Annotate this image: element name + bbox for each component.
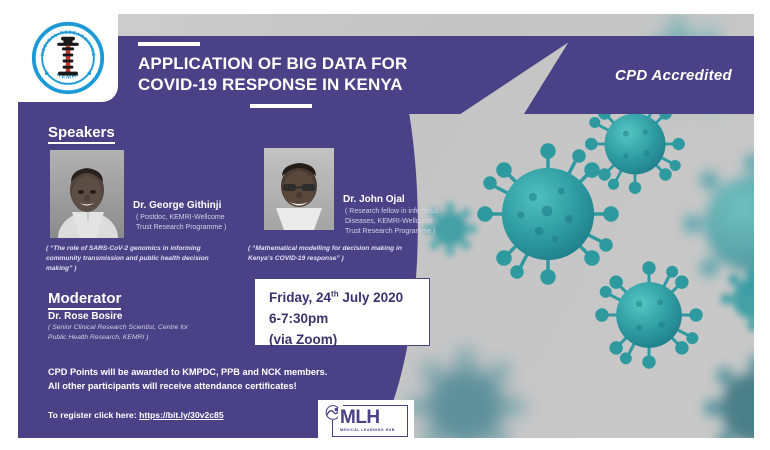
cpd-points-line-1: CPD Points will be awarded to KMPDC, PPB… <box>48 366 358 380</box>
speaker-quote-1: ( “Mathematical modelling for decision m… <box>248 244 428 264</box>
speaker-affiliation-1: ( Research fellow in infectious Diseases… <box>345 207 449 237</box>
speaker-photo-john-ojal <box>264 148 334 230</box>
title-rule-top <box>138 42 200 46</box>
event-platform: (via Zoom) <box>269 330 429 351</box>
virus-particle <box>403 344 528 438</box>
page-title: APPLICATION OF BIG DATA FOR COVID-19 RES… <box>138 54 408 95</box>
title-rule-bottom <box>250 104 312 108</box>
moderator-affiliation: ( Senior Clinical Research Scientist, Ce… <box>48 323 208 343</box>
mlh-tagline: MEDICAL LEARNING HUB <box>340 429 395 433</box>
event-time: 6-7:30pm <box>269 309 429 330</box>
event-date-rest: July 2020 <box>339 290 404 305</box>
event-date: Friday, 24th July 2020 <box>269 288 429 309</box>
speakers-heading: Speakers <box>48 124 115 144</box>
mlh-text-block: MLH MEDICAL LEARNING HUB <box>338 408 397 433</box>
register-line: To register click here: https://bit.ly/3… <box>48 410 224 420</box>
event-date-suffix: th <box>331 290 339 299</box>
speaker-affiliation-0: ( Postdoc, KEMRI-Wellcome Trust Research… <box>136 213 236 233</box>
virus-particle <box>698 349 754 438</box>
moderator-heading: Moderator <box>48 290 121 310</box>
register-label: To register click here: <box>48 410 137 420</box>
moderator-heading-label: Moderator <box>48 290 121 310</box>
virus-particle <box>718 264 754 334</box>
cpd-accredited-badge: CPD Accredited <box>615 36 732 114</box>
cpd-points-line-2: All other participants will receive atte… <box>48 380 358 394</box>
mlh-acronym: MLH <box>340 408 395 427</box>
event-date-text: Friday, 24 <box>269 290 331 305</box>
speaker-name-0: Dr. George Githinji <box>133 200 221 211</box>
title-block: APPLICATION OF BIG DATA FOR COVID-19 RES… <box>138 42 408 108</box>
kemri-logo-plate: KENYA MEDICAL RESEARCH INSTITUTE KEMRI <box>18 14 118 102</box>
mlh-logo: MLH MEDICAL LEARNING HUB <box>318 400 414 438</box>
kemri-logo-icon: KENYA MEDICAL RESEARCH INSTITUTE KEMRI <box>30 20 106 96</box>
moderator-name: Dr. Rose Bosire <box>48 311 122 322</box>
speaker-photo-george-githinji <box>50 150 124 238</box>
register-link[interactable]: https://bit.ly/30v2c85 <box>139 410 224 420</box>
speaker-name-1: Dr. John Ojal <box>343 194 405 205</box>
speakers-heading-label: Speakers <box>48 124 115 144</box>
event-datetime-box: Friday, 24th July 2020 6-7:30pm (via Zoo… <box>254 278 430 346</box>
cpd-points-note: CPD Points will be awarded to KMPDC, PPB… <box>48 366 358 394</box>
speaker-quote-0: ( “The role of SARS-CoV-2 genomics in in… <box>46 244 222 274</box>
poster-canvas: CPD Accredited KENYA MEDICAL RESEARCH IN… <box>18 14 754 438</box>
